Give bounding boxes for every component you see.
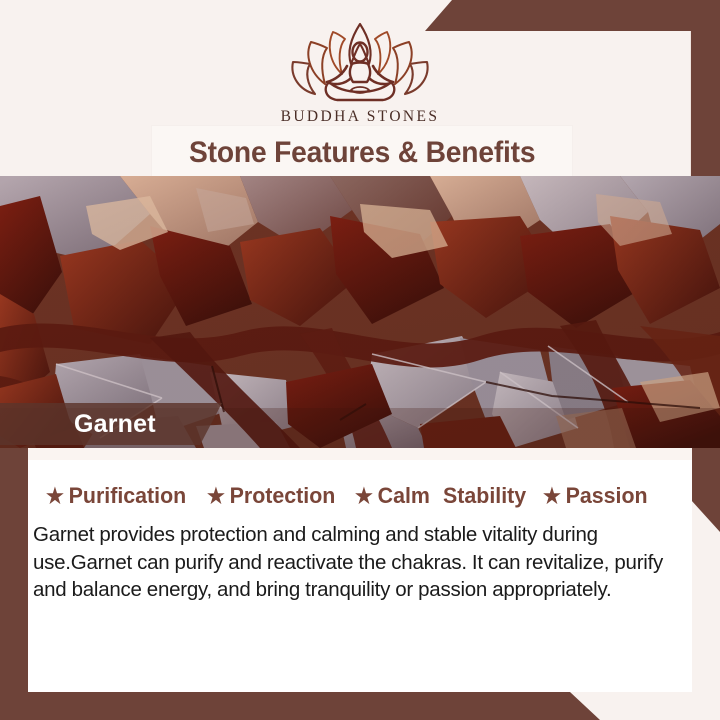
benefits-list: ★ Purification ★ Protection ★ Calm Stabi… bbox=[46, 479, 686, 513]
star-icon: ★ bbox=[207, 486, 225, 507]
benefit-label: Stability bbox=[443, 483, 526, 509]
stone-description: Garnet provides protection and calming a… bbox=[33, 521, 685, 604]
star-icon: ★ bbox=[355, 486, 373, 507]
brand-logo: BUDDHA STONES bbox=[0, 22, 720, 126]
benefit-label: Purification bbox=[69, 483, 187, 509]
star-icon: ★ bbox=[543, 486, 561, 507]
benefit-label: Protection bbox=[229, 483, 335, 509]
lotus-meditation-icon bbox=[285, 22, 435, 104]
brand-name: BUDDHA STONES bbox=[281, 108, 440, 126]
benefit-label: Passion bbox=[566, 483, 648, 509]
star-icon: ★ bbox=[46, 486, 64, 507]
benefit-label: Calm bbox=[377, 483, 429, 509]
benefit-stability: Stability bbox=[443, 483, 526, 509]
stone-name: Garnet bbox=[74, 410, 156, 439]
benefit-passion: ★ Passion bbox=[543, 483, 648, 509]
page-title-box: Stone Features & Benefits bbox=[152, 126, 572, 180]
stone-name-band: Garnet bbox=[0, 403, 222, 445]
page-title: Stone Features & Benefits bbox=[189, 136, 535, 170]
infographic-card: BUDDHA STONES Stone Features & Benefits bbox=[0, 0, 720, 720]
bottom-bar-decoration bbox=[0, 692, 600, 720]
left-rail-decoration bbox=[0, 437, 28, 720]
content-panel-top-strip bbox=[28, 448, 692, 460]
benefit-purification: ★ Purification bbox=[46, 483, 186, 509]
benefit-protection: ★ Protection bbox=[207, 483, 335, 509]
benefit-calm: ★ Calm bbox=[355, 483, 430, 509]
